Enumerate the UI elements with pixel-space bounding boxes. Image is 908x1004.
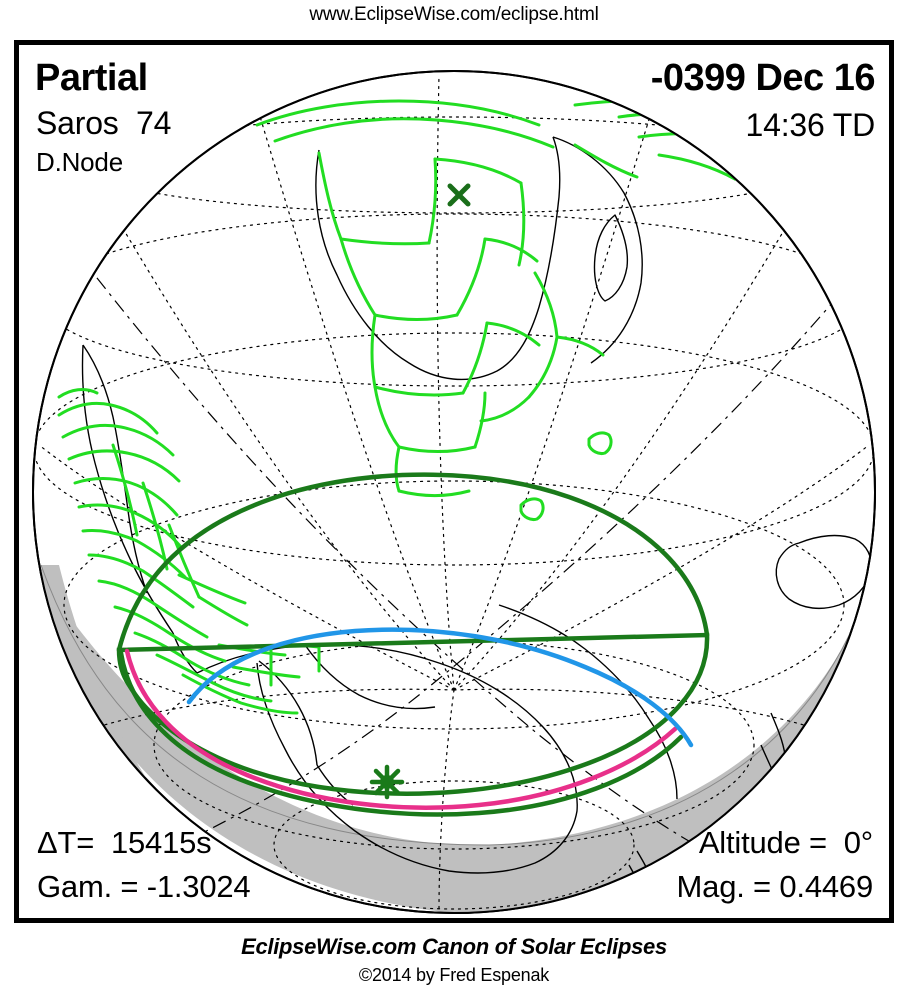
source-url: www.EclipseWise.com/eclipse.html: [0, 4, 908, 26]
saros-label: Saros 74: [36, 107, 171, 139]
eclipse-map-page: www.EclipseWise.com/eclipse.html: [0, 0, 908, 1004]
eclipse-time-label: 14:36 TD: [746, 109, 875, 141]
footer: EclipseWise.com Canon of Solar Eclipses …: [0, 934, 908, 986]
eclipse-date-label: -0399 Dec 16: [651, 59, 875, 97]
magnitude-label: Mag. = 0.4469: [677, 871, 873, 902]
eclipse-type-label: Partial: [35, 59, 148, 97]
gamma-label: Gam. = -1.3024: [37, 871, 250, 902]
delta-t-label: ΔT= 15415s: [37, 827, 211, 858]
map-frame: Partial Saros 74 D.Node -0399 Dec 16 14:…: [14, 40, 894, 923]
map-canvas: Partial Saros 74 D.Node -0399 Dec 16 14:…: [19, 45, 889, 918]
orthographic-globe-svg: [19, 45, 889, 918]
greatest-eclipse-asterisk-marker: [372, 767, 402, 797]
footer-title: EclipseWise.com Canon of Solar Eclipses: [0, 934, 908, 960]
footer-credit: ©2014 by Fred Espenak: [0, 965, 908, 986]
altitude-label: Altitude = 0°: [699, 827, 873, 858]
node-label: D.Node: [36, 149, 123, 175]
